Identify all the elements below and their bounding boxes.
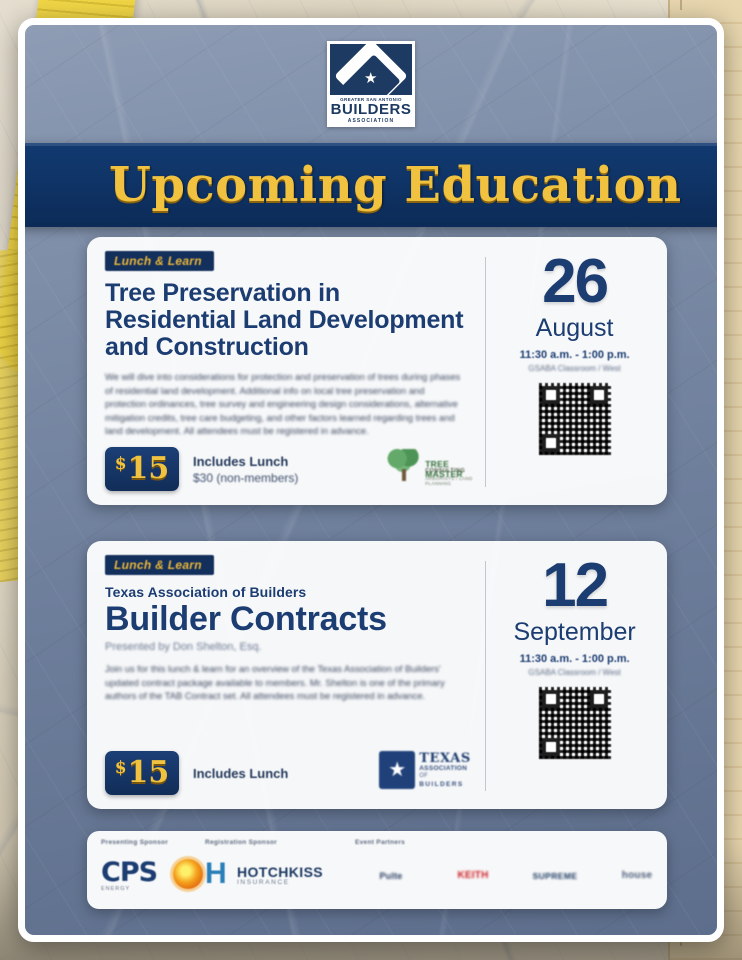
sunburst-icon <box>173 859 203 889</box>
card-divider <box>485 257 486 487</box>
sponsor-group-registration: Registration Sponsor H HOTCHKISS INSURAN… <box>205 839 355 901</box>
poster-backdrop: ★ GREATER SAN ANTONIO BUILDERS ASSOCIATI… <box>0 0 742 960</box>
star-icon: ★ <box>388 760 406 780</box>
qr-finder-tr <box>590 386 608 404</box>
event-location: GSABA Classroom / West <box>500 668 649 677</box>
page-title: Upcoming Education <box>109 160 682 210</box>
hotchkiss-mark-icon: H <box>205 858 227 890</box>
partner-logo-1: Pulte <box>355 856 427 896</box>
qr-finder-bl <box>542 434 560 452</box>
sponsor-group-label: Presenting Sponsor <box>101 839 205 846</box>
sponsor-group-label: Registration Sponsor <box>205 839 355 846</box>
education-poster: ★ GREATER SAN ANTONIO BUILDERS ASSOCIATI… <box>18 18 724 942</box>
sponsor-line-2: CONSULTING <box>425 468 465 474</box>
currency-symbol: $ <box>115 454 127 474</box>
event-title: Tree Preservation in Residential Land De… <box>105 280 473 361</box>
price-badge: $ 15 <box>105 447 179 491</box>
brand-logo: ★ GREATER SAN ANTONIO BUILDERS ASSOCIATI… <box>25 41 717 127</box>
currency-symbol: $ <box>115 758 127 778</box>
partner-logo-3: SUPREME <box>519 856 591 896</box>
qr-finder-bl <box>542 738 560 756</box>
sponsor-line-4: BUILDERS <box>419 781 463 788</box>
event-presenter: Presented by Don Shelton, Esq. <box>105 641 473 653</box>
event-details: Lunch & Learn Tree Preservation in Resid… <box>105 251 485 493</box>
event-tag-badge: Lunch & Learn <box>105 555 214 575</box>
tree-logo: TREE MASTER CONSULTING ARBORISTS / LAND … <box>383 447 479 489</box>
card-divider <box>485 561 486 791</box>
sponsor-group-presenting: Presenting Sponsor CPS ENERGY <box>101 839 205 901</box>
event-date-block: 26 August 11:30 a.m. - 1:00 p.m. GSABA C… <box>500 251 649 493</box>
roof-house-star-icon: ★ <box>330 44 412 95</box>
event-card[interactable]: Lunch & Learn Texas Association of Build… <box>87 541 667 809</box>
sponsor-group-label: Event Partners <box>355 839 673 846</box>
tree-trunk-icon <box>402 469 406 481</box>
brand-line-main: BUILDERS <box>331 102 412 118</box>
sponsor-line-3: OF <box>419 773 428 779</box>
price-note: Includes Lunch <box>193 454 298 469</box>
event-time: 11:30 a.m. - 1:00 p.m. <box>500 653 649 665</box>
event-pretitle: Texas Association of Builders <box>105 584 473 600</box>
price-amount: 15 <box>128 757 170 789</box>
partner-logo-4: house <box>601 856 673 896</box>
qr-finder-tl <box>542 386 560 404</box>
partner-wordmark: Pulte <box>379 871 402 881</box>
sponsor-line-2: ASSOCIATION <box>419 765 467 772</box>
event-description: We will dive into considerations for pro… <box>105 370 467 438</box>
cps-energy-logo: CPS ENERGY <box>101 856 205 896</box>
hotchkiss-wordmark: HOTCHKISS <box>237 864 323 880</box>
event-date-block: 12 September 11:30 a.m. - 1:00 p.m. GSAB… <box>500 555 649 797</box>
event-tag-badge: Lunch & Learn <box>105 251 214 271</box>
qr-code-register[interactable] <box>539 687 611 759</box>
event-location: GSABA Classroom / West <box>500 364 649 373</box>
qr-finder-tr <box>590 690 608 708</box>
sponsor-bar: Presenting Sponsor CPS ENERGY Registrati… <box>87 831 667 909</box>
texas-star-shield-icon: ★ TEXAS ASSOCIATION OF BUILDERS <box>379 749 479 793</box>
event-card[interactable]: Lunch & Learn Tree Preservation in Resid… <box>87 237 667 505</box>
price-sub-note: $30 (non-members) <box>193 471 298 485</box>
price-badge: $ 15 <box>105 751 179 795</box>
event-month: August <box>500 313 649 343</box>
event-sponsor-logo: ★ TEXAS ASSOCIATION OF BUILDERS <box>379 749 479 793</box>
price-amount: 15 <box>128 453 170 485</box>
price-note: Includes Lunch <box>193 766 288 781</box>
partner-wordmark: KEITH <box>458 870 489 881</box>
event-day: 12 <box>500 557 649 615</box>
hotchkiss-insurance-logo: H HOTCHKISS INSURANCE <box>205 856 355 896</box>
qr-code-register[interactable] <box>539 383 611 455</box>
partner-logo-2: KEITH <box>437 856 509 896</box>
title-banner: Upcoming Education <box>18 143 724 227</box>
partner-wordmark: house <box>622 870 652 881</box>
partner-wordmark: SUPREME <box>533 871 578 881</box>
event-sponsor-logo: TREE MASTER CONSULTING ARBORISTS / LAND … <box>383 447 479 489</box>
sponsor-line-1: TEXAS <box>419 751 471 766</box>
hotchkiss-subtext: INSURANCE <box>237 879 290 886</box>
event-month: September <box>500 617 649 647</box>
event-day: 26 <box>500 253 649 311</box>
star-icon: ★ <box>364 71 377 86</box>
event-description: Join us for this lunch & learn for an ov… <box>105 662 467 703</box>
qr-finder-tl <box>542 690 560 708</box>
sponsor-line-3: ARBORISTS / LAND PLANNING <box>425 476 479 486</box>
event-title: Builder Contracts <box>105 601 473 637</box>
event-details: Lunch & Learn Texas Association of Build… <box>105 555 485 797</box>
sponsor-group-partners: Event Partners Pulte KEITH SUPREME house <box>355 839 673 901</box>
event-time: 11:30 a.m. - 1:00 p.m. <box>500 349 649 361</box>
brand-line-bottom: ASSOCIATION <box>348 118 394 124</box>
